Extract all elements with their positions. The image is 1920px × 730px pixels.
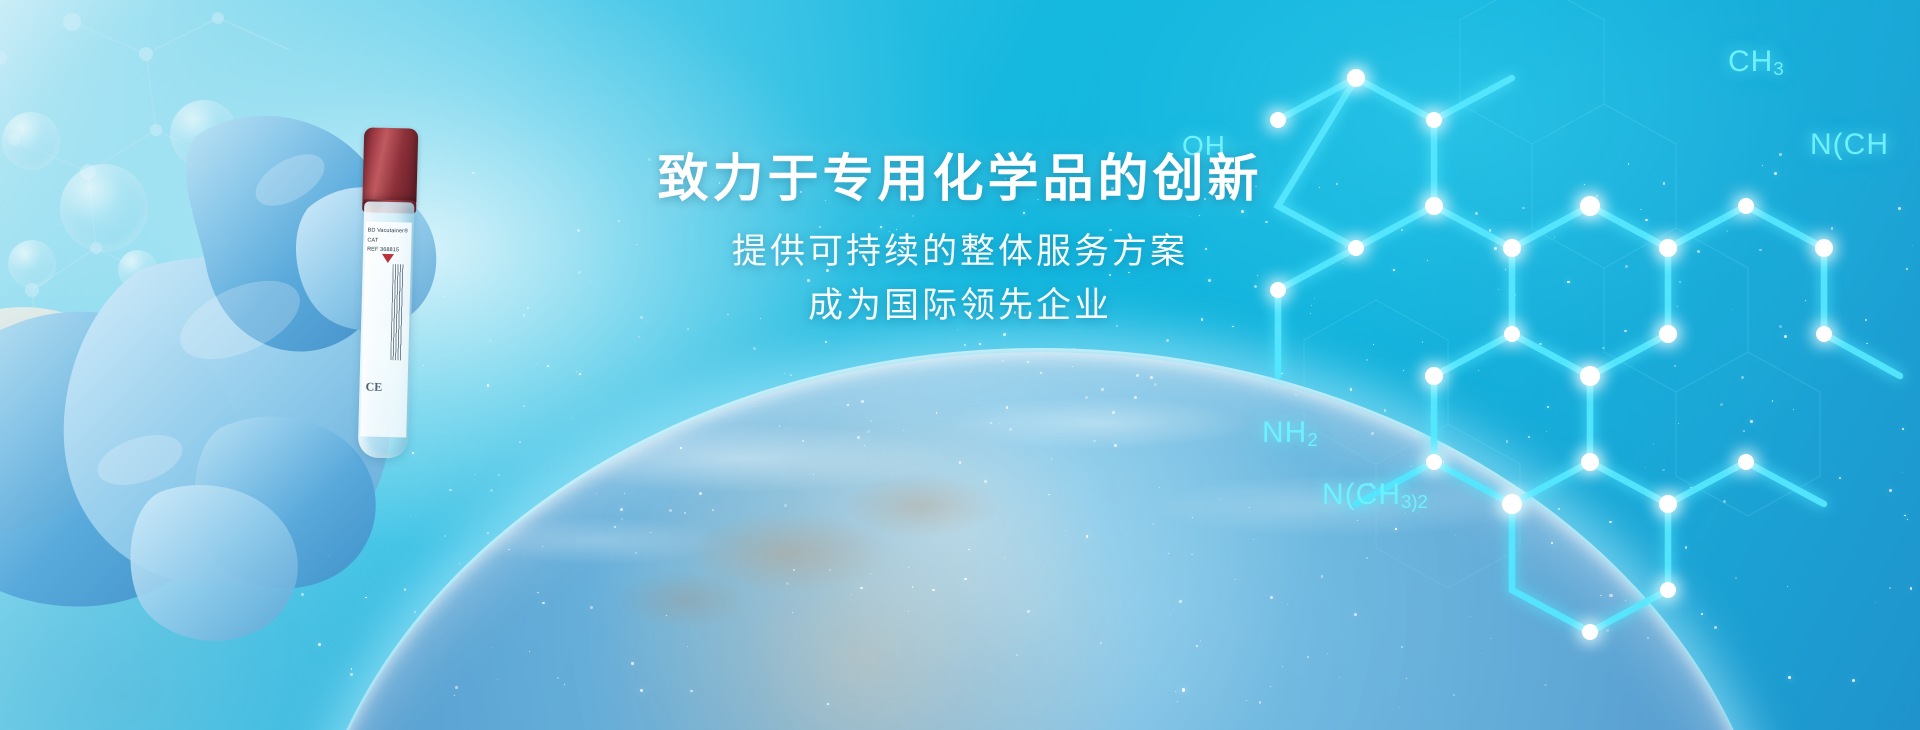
page-title: 致力于专用化学品的创新 (0, 150, 1920, 210)
molecule-structure-right (1160, 0, 1920, 730)
chem-sub-3-2: 3)2 (1401, 491, 1428, 512)
chem-label-ch3: CH3 (1728, 45, 1784, 80)
earth-atmosphere-rim (298, 348, 1782, 730)
light-wash (0, 310, 700, 730)
chem-sub-2: 2 (1307, 429, 1317, 450)
earth-landmass (300, 352, 1780, 730)
chem-label-nch3-2: N(CH3)2 (1322, 478, 1428, 513)
tube-ce-mark: CE (365, 379, 382, 394)
hero-subtitle-line-1: 提供可持续的整体服务方案 (0, 227, 1920, 279)
earth-globe (300, 352, 1780, 730)
chem-sub-3: 3 (1773, 58, 1783, 79)
hero-copy: 致力于专用化学品的创新 提供可持续的整体服务方案 成为国际领先企业 (0, 150, 1920, 333)
earth-clouds (300, 352, 1780, 730)
decorative-sphere (62, 404, 182, 524)
chem-label-nh2: NH2 (1262, 416, 1318, 451)
starfield (0, 0, 1920, 730)
hero-subtitle-line-2: 成为国际领先企业 (0, 281, 1920, 333)
gloved-hand (0, 40, 510, 730)
hero-banner: BD Vacutainer® CAT REF 368815 CE (0, 0, 1920, 730)
